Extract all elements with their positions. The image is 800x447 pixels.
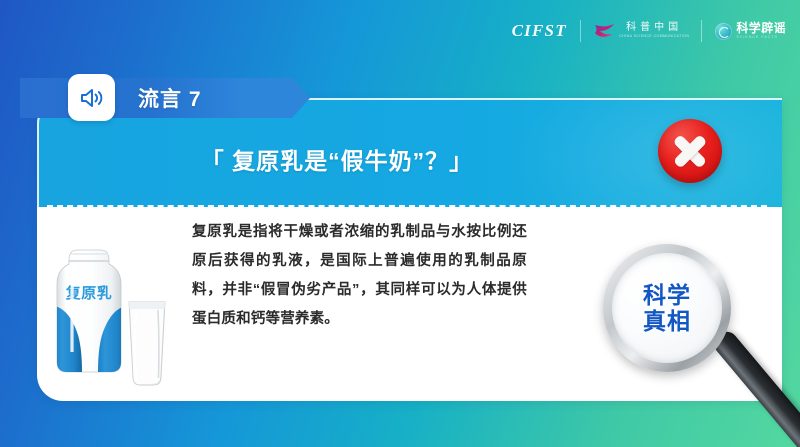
magnifier-circle-icon [715,23,732,40]
magnifier-ring: 科学 真相 [603,244,731,372]
cross-x-icon [658,119,722,183]
bird-icon [594,23,615,39]
logo-divider [701,20,702,42]
magnifying-glass-icon: 科学 真相 [595,238,800,447]
kexue-logo-text: 科学辟谣 SCIENCE FACTS [736,22,786,40]
header-logo-bar: CIFST 科普中国 CHINA SCIENCE COMMUNICATION [0,0,800,62]
kexue-logo-en: SCIENCE FACTS [736,36,786,40]
rumor-label: 流言 7 [138,83,202,113]
body-text: 复原乳是指将干燥或者浓缩的乳制品与水按比例还原后获得的乳液，是国际上普遍使用的乳… [192,218,527,334]
rumor-ribbon: 流言 7 [20,78,310,118]
speaker-icon [68,74,115,121]
dashed-divider [47,205,767,207]
magnifier-handle [710,327,800,447]
magnifier-lens: 科学 真相 [612,253,722,363]
cifst-logo: CIFST [512,21,567,41]
kepu-logo-en: CHINA SCIENCE COMMUNICATION [619,35,689,38]
page-title: 「 复原乳是“假牛奶”？」 [37,142,637,176]
magnifier-text-line2: 真相 [643,308,691,334]
kepu-logo-cn: 科普中国 [626,23,682,33]
kexue-piyao-logo: 科学辟谣 SCIENCE FACTS [715,22,786,40]
kepu-china-logo: 科普中国 CHINA SCIENCE COMMUNICATION [594,23,689,39]
kepu-logo-text: 科普中国 CHINA SCIENCE COMMUNICATION [620,23,689,38]
kexue-logo-cn: 科学辟谣 [736,22,786,34]
logo-divider [580,20,581,42]
magnifier-text-line1: 科学 [643,282,691,308]
milk-bottle-and-glass-icon: 复原乳 [45,236,175,396]
